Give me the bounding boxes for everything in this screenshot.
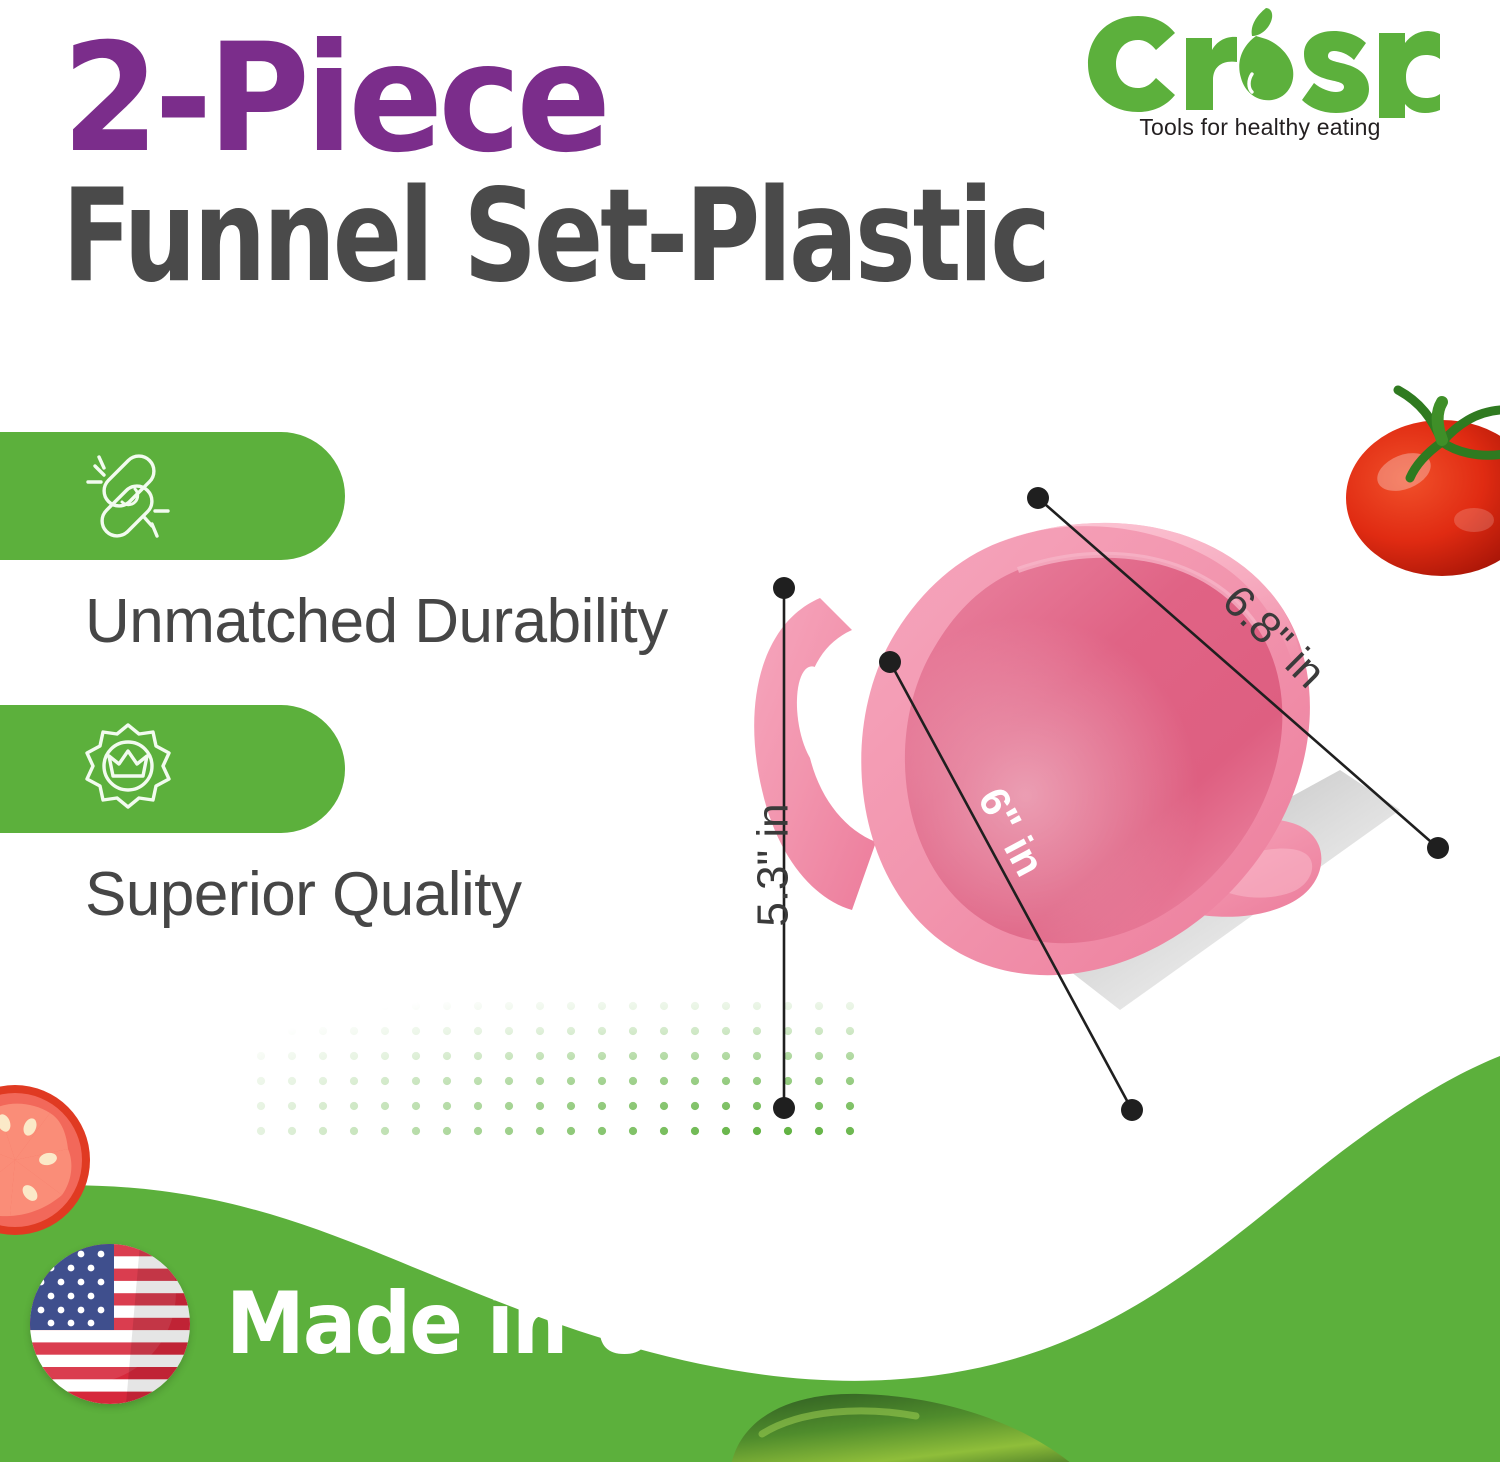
feature-quality: Superior Quality	[0, 705, 522, 930]
logo-wordmark	[1080, 6, 1440, 118]
tomato-icon	[1324, 368, 1500, 598]
made-in-usa-label: Made in USA	[226, 1274, 769, 1374]
title-line-1: 2-Piece	[62, 28, 1020, 171]
feature-pill	[0, 432, 345, 560]
crisp-logo-icon	[1080, 6, 1440, 118]
feature-durability: Unmatched Durability	[0, 432, 668, 657]
dimension-label-height: 5.3" in	[749, 803, 799, 926]
brand-logo: Tools for healthy eating	[1080, 6, 1440, 141]
feature-label: Superior Quality	[85, 859, 522, 930]
chain-link-icon	[78, 446, 178, 546]
us-flag-icon	[30, 1244, 190, 1404]
brand-tagline: Tools for healthy eating	[1080, 114, 1440, 141]
feature-pill	[0, 705, 345, 833]
feature-label: Unmatched Durability	[85, 586, 668, 657]
product-infographic: 2-Piece Funnel Set-Plastic Tools for hea…	[0, 0, 1500, 1462]
made-in-usa-badge: Made in USA	[30, 1244, 816, 1404]
title-line-2: Funnel Set-Plastic	[62, 173, 886, 301]
page-title: 2-Piece Funnel Set-Plastic	[62, 28, 1092, 301]
tomato-slice-icon	[0, 1083, 93, 1238]
badge-crown-icon	[78, 719, 178, 819]
